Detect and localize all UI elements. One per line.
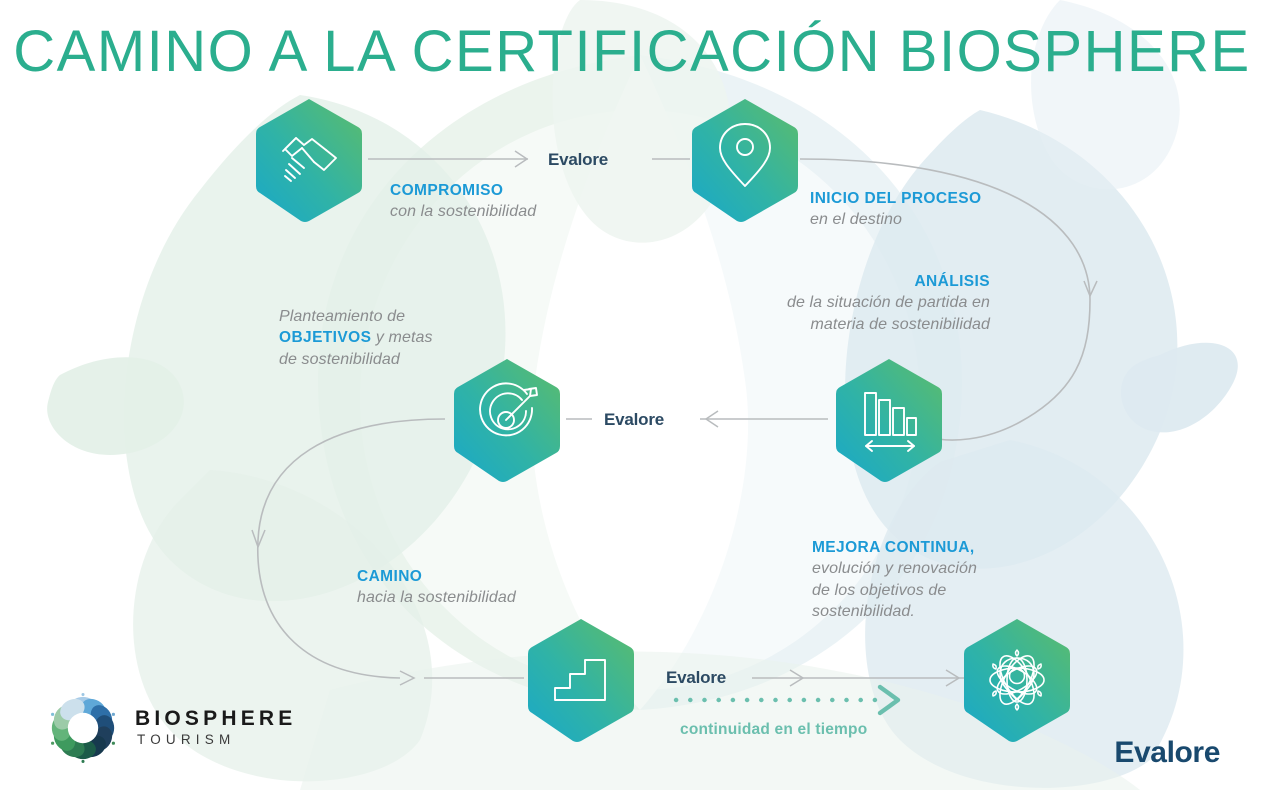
connector-label-middle: Evalore	[604, 410, 664, 430]
continuity-label: continuidad en el tiempo	[680, 721, 867, 739]
page-title: CAMINO A LA CERTIFICACIÓN BIOSPHERE	[0, 18, 1264, 85]
subtitle-mejora-line1: evolución y renovación	[812, 558, 1062, 579]
hexagon-inicio-proceso[interactable]	[688, 96, 802, 224]
hexagon-mejora-continua[interactable]	[960, 616, 1074, 744]
objetivos-line2-tail: y metas	[371, 329, 432, 346]
hexagon-compromiso[interactable]	[252, 96, 366, 224]
hexagon-objetivos[interactable]	[450, 356, 564, 484]
heading-mejora-continua: MEJORA CONTINUA,	[812, 538, 1062, 558]
connector-label-bottom: Evalore	[666, 668, 726, 688]
biosphere-logo: BIOSPHERE TOURISM	[45, 690, 297, 766]
infographic-canvas: CAMINO A LA CERTIFICACIÓN BIOSPHERE	[0, 0, 1264, 790]
subtitle-compromiso: con la sostenibilidad	[390, 201, 536, 222]
text-block-inicio-proceso: INICIO DEL PROCESO en el destino	[810, 189, 981, 231]
text-block-mejora-continua: MEJORA CONTINUA, evolución y renovación …	[812, 538, 1062, 622]
subtitle-camino: hacia la sostenibilidad	[357, 587, 516, 608]
text-block-objetivos: Planteamiento de OBJETIVOS y metas de so…	[279, 306, 529, 370]
text-block-analisis: ANÁLISIS de la situación de partida en m…	[650, 272, 990, 335]
text-block-compromiso: COMPROMISO con la sostenibilidad	[390, 181, 536, 223]
subtitle-inicio-proceso: en el destino	[810, 209, 981, 230]
connector-left-curve	[258, 419, 445, 678]
biosphere-wordmark: BIOSPHERE	[135, 707, 297, 731]
heading-inicio-proceso: INICIO DEL PROCESO	[810, 189, 981, 209]
heading-objetivos: OBJETIVOS	[279, 329, 371, 346]
subtitle-mejora-line2: de los objetivos de	[812, 580, 1062, 601]
subtitle-mejora-line3: sostenibilidad.	[812, 601, 1062, 622]
evalore-logo: Evalore	[1114, 736, 1220, 770]
heading-camino: CAMINO	[357, 567, 516, 587]
subtitle-analisis-line2: materia de sostenibilidad	[650, 314, 990, 335]
biosphere-subwordmark: TOURISM	[137, 731, 297, 749]
objetivos-line2: OBJETIVOS y metas	[279, 327, 529, 348]
hexagon-analisis[interactable]	[832, 356, 946, 484]
subtitle-analisis-line1: de la situación de partida en	[650, 292, 990, 313]
objetivos-line1: Planteamiento de	[279, 306, 529, 327]
heading-analisis: ANÁLISIS	[650, 272, 990, 292]
connector-label-top: Evalore	[548, 150, 608, 170]
hexagon-camino[interactable]	[524, 616, 638, 744]
heading-compromiso: COMPROMISO	[390, 181, 536, 201]
continuity-dashed-arrow	[676, 687, 898, 713]
objetivos-line3: de sostenibilidad	[279, 349, 529, 370]
biosphere-mark-icon	[45, 690, 121, 766]
text-block-camino: CAMINO hacia la sostenibilidad	[357, 567, 516, 609]
